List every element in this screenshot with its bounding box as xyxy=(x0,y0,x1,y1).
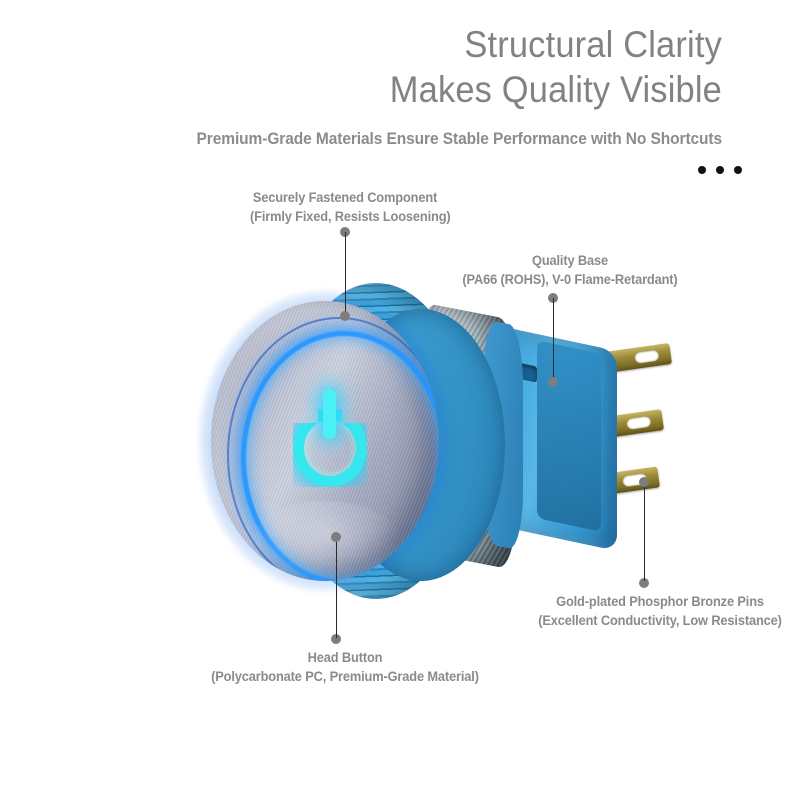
head-button-face xyxy=(211,301,439,581)
subtitle: Premium-Grade Materials Ensure Stable Pe… xyxy=(196,128,722,150)
head-highlight xyxy=(251,501,401,581)
callout-gold-plated-pins: Gold-plated Phosphor Bronze Pins (Excell… xyxy=(527,592,793,630)
callout-quality-base: Quality Base (PA66 (ROHS), V-0 Flame-Ret… xyxy=(437,251,703,289)
callout-leader-line xyxy=(553,298,554,382)
callout-detail: (PA66 (ROHS), V-0 Flame-Retardant) xyxy=(437,270,703,289)
page-title: Structural Clarity Makes Quality Visible xyxy=(62,22,722,112)
callout-detail: (Excellent Conductivity, Low Resistance) xyxy=(527,611,793,630)
dot-1 xyxy=(698,166,706,174)
infographic-canvas: Structural Clarity Makes Quality Visible… xyxy=(0,0,800,800)
callout-anchor-node xyxy=(548,377,558,387)
callout-detail: (Polycarbonate PC, Premium-Grade Materia… xyxy=(198,667,493,686)
callout-title: Securely Fastened Component xyxy=(250,188,440,207)
product-image xyxy=(185,275,685,625)
callout-head-button: Head Button (Polycarbonate PC, Premium-G… xyxy=(198,648,493,686)
headline-line-2: Makes Quality Visible xyxy=(108,67,722,112)
dot-3 xyxy=(734,166,742,174)
power-symbol-icon xyxy=(285,387,377,499)
callout-title: Gold-plated Phosphor Bronze Pins xyxy=(527,592,793,611)
callout-leader-line xyxy=(336,536,337,638)
callout-anchor-node xyxy=(331,532,341,542)
callout-title: Head Button xyxy=(198,648,493,667)
callout-anchor-node xyxy=(340,311,350,321)
callout-securely-fastened-component: Securely Fastened Component (Firmly Fixe… xyxy=(250,188,440,226)
dot-2 xyxy=(716,166,724,174)
power-icon-bar xyxy=(323,389,336,439)
headline-line-1: Structural Clarity xyxy=(108,22,722,67)
callout-detail: (Firmly Fixed, Resists Loosening) xyxy=(250,207,440,226)
pin-hole xyxy=(634,350,659,364)
callout-leader-line xyxy=(644,481,645,581)
pin-hole xyxy=(626,416,651,430)
callout-leader-line xyxy=(345,232,346,316)
callout-anchor-node xyxy=(639,477,649,487)
callout-title: Quality Base xyxy=(437,251,703,270)
decorative-dots xyxy=(698,166,742,174)
base-rear-face xyxy=(537,340,601,532)
